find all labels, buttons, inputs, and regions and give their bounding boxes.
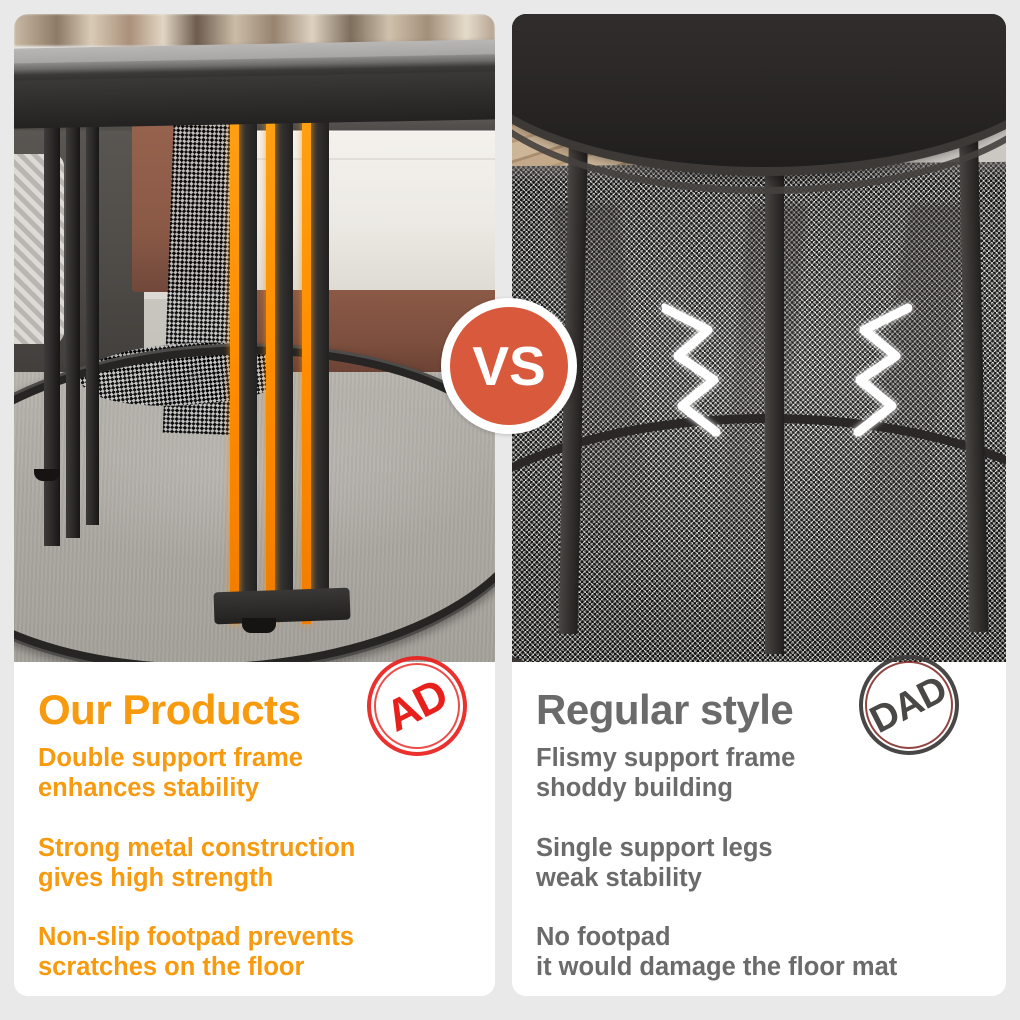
right-drawback-item-3: No footpad it would damage the floor mat xyxy=(536,923,1006,983)
left-photo-footpad-2 xyxy=(34,469,60,481)
right-photo-base-ring xyxy=(512,414,1006,662)
left-photo-bracket-plate xyxy=(213,588,350,625)
left-photo-support-leg-3 xyxy=(308,70,329,616)
right-photo-table-apron xyxy=(512,14,1006,194)
vs-badge-label: VS xyxy=(472,339,545,394)
wobble-zigzag-left xyxy=(662,300,732,450)
left-photo-back-leg-3 xyxy=(86,70,99,525)
ad-stamp: AD xyxy=(365,654,469,758)
left-photo-orange-highlight-1 xyxy=(230,66,239,624)
left-benefit-list: Double support frame enhances stability … xyxy=(38,744,495,983)
right-drawback-list: Flismy support frame shoddy building Sin… xyxy=(536,744,1006,983)
left-photo-table-apron xyxy=(14,71,495,129)
comparison-graphic: Our Products Double support frame enhanc… xyxy=(0,0,1020,1020)
left-photo-orange-highlight-2 xyxy=(266,66,275,624)
left-panel: Our Products Double support frame enhanc… xyxy=(14,14,495,996)
wobble-zigzag-right xyxy=(842,300,912,450)
left-photo-orange-highlight-3 xyxy=(302,66,311,624)
vs-badge: VS xyxy=(441,298,577,434)
vs-badge-circle: VS xyxy=(450,307,568,425)
left-photo-back-leg-2 xyxy=(66,68,80,538)
right-drawback-item-2: Single support legs weak stability xyxy=(536,834,1006,894)
left-product-photo xyxy=(14,14,495,662)
left-photo-footpad-1 xyxy=(242,618,276,633)
right-product-photo xyxy=(512,14,1006,662)
right-panel: Regular style Flismy support frame shodd… xyxy=(512,14,1006,996)
left-photo-support-leg-2 xyxy=(272,70,293,616)
left-benefit-item-2: Strong metal construction gives high str… xyxy=(38,834,495,894)
left-photo-support-leg-1 xyxy=(236,70,257,616)
dad-stamp: DAD xyxy=(857,653,961,757)
left-benefit-item-3: Non-slip footpad prevents scratches on t… xyxy=(38,923,495,983)
